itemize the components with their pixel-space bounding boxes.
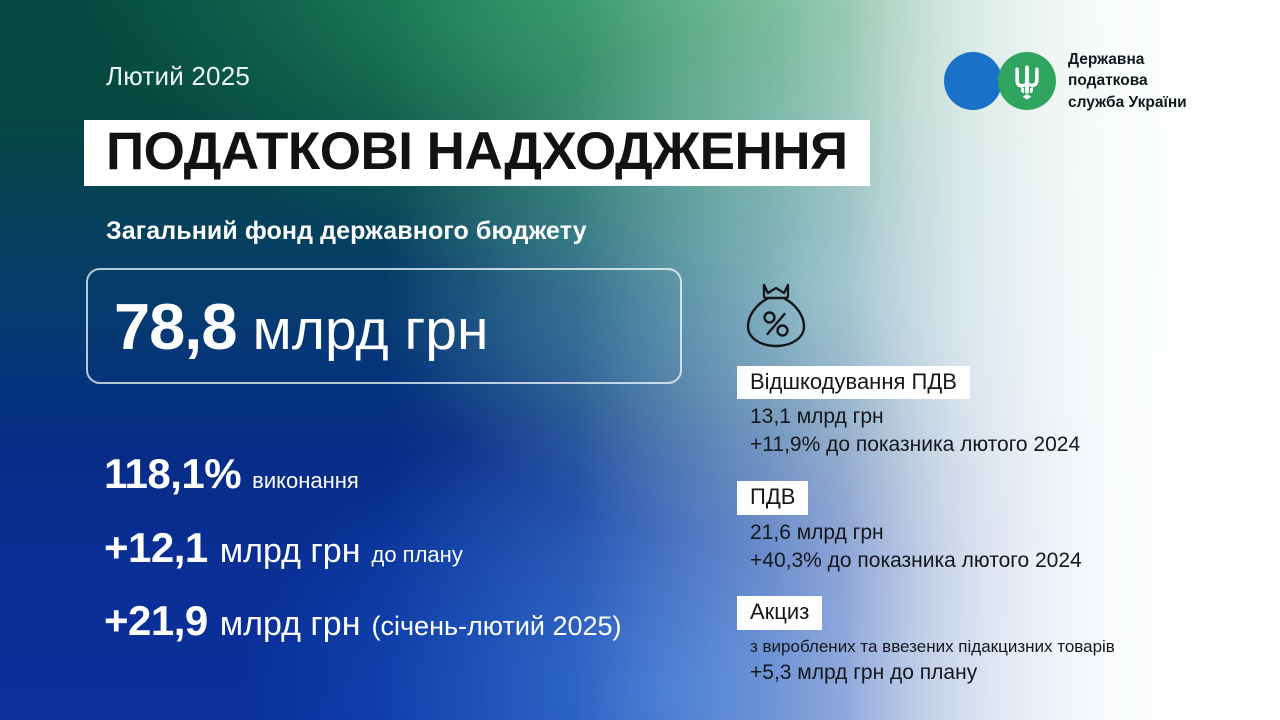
- card-lines: з вироблених та ввезених підакцизних тов…: [737, 634, 1207, 687]
- card-line-change: +40,3% до показника лютого 2024: [750, 547, 1207, 575]
- stat-unit: млрд грн: [220, 534, 361, 569]
- hero-amount-unit: млрд грн: [253, 302, 489, 359]
- stats-list: 118,1% виконання +12,1 млрд грн до плану…: [104, 452, 622, 643]
- stat-value: +21,9: [104, 599, 208, 643]
- card-line-description: з вироблених та ввезених підакцизних тов…: [750, 634, 1207, 660]
- card-line-amount: 13,1 млрд грн: [750, 403, 1207, 431]
- page-title: ПОДАТКОВІ НАДХОДЖЕННЯ: [106, 125, 848, 179]
- hero-amount-value: 78,8: [114, 294, 237, 359]
- card-lines: 21,6 млрд грн +40,3% до показника лютого…: [737, 519, 1207, 575]
- logo-text-line-3: служба України: [1068, 92, 1187, 113]
- stat-note: (січень-лютий 2025): [372, 612, 622, 640]
- logo-blue-circle-icon: [944, 52, 1002, 110]
- page-subtitle: Загальний фонд державного бюджету: [106, 217, 587, 246]
- logo-text-line-2: податкова: [1068, 70, 1187, 91]
- organization-logo: Державна податкова служба України: [944, 49, 1187, 113]
- stat-unit: млрд грн: [220, 607, 361, 642]
- card-line-amount: 21,6 млрд грн: [750, 519, 1207, 547]
- card-title: Акциз: [750, 599, 809, 625]
- card-line-change: +11,9% до показника лютого 2024: [750, 431, 1207, 459]
- hero-amount-inner: 78,8 млрд грн: [114, 294, 488, 359]
- stat-note: до плану: [372, 544, 463, 567]
- card-title: Відшкодування ПДВ: [750, 369, 957, 395]
- stat-value: 118,1%: [104, 452, 241, 496]
- stat-row-above-plan: +12,1 млрд грн до плану: [104, 526, 622, 570]
- logo-text-line-1: Державна: [1068, 49, 1187, 70]
- stat-value: +12,1: [104, 526, 208, 570]
- logo-marks: [944, 52, 1056, 110]
- card-vat-refund: Відшкодування ПДВ 13,1 млрд грн +11,9% д…: [737, 366, 1207, 459]
- card-lines: 13,1 млрд грн +11,9% до показника лютого…: [737, 403, 1207, 459]
- month-label: Лютий 2025: [106, 61, 250, 92]
- card-vat: ПДВ 21,6 млрд грн +40,3% до показника лю…: [737, 481, 1207, 574]
- card-title-plate: ПДВ: [737, 481, 808, 514]
- stat-row-execution: 118,1% виконання: [104, 452, 622, 496]
- tax-breakdown-cards: Відшкодування ПДВ 13,1 млрд грн +11,9% д…: [737, 366, 1207, 687]
- card-excise: Акциз з вироблених та ввезених підакцизн…: [737, 596, 1207, 687]
- money-bag-percent-icon: [737, 277, 815, 355]
- ukraine-trident-icon: [998, 52, 1056, 110]
- card-title-plate: Відшкодування ПДВ: [737, 366, 970, 399]
- card-title: ПДВ: [750, 484, 795, 510]
- page-title-plate: ПОДАТКОВІ НАДХОДЖЕННЯ: [84, 120, 870, 186]
- stat-note: виконання: [252, 470, 359, 493]
- logo-text: Державна податкова служба України: [1068, 49, 1187, 113]
- infographic-poster: Лютий 2025 ПОДАТКОВІ НАДХОДЖЕННЯ Загальн…: [0, 0, 1280, 720]
- card-line-amount: +5,3 млрд грн до плану: [750, 659, 1207, 687]
- poster-content: Лютий 2025 ПОДАТКОВІ НАДХОДЖЕННЯ Загальн…: [0, 0, 1280, 720]
- hero-amount-box: 78,8 млрд грн: [86, 268, 682, 384]
- stat-row-ytd: +21,9 млрд грн (січень-лютий 2025): [104, 599, 622, 643]
- card-title-plate: Акциз: [737, 596, 822, 629]
